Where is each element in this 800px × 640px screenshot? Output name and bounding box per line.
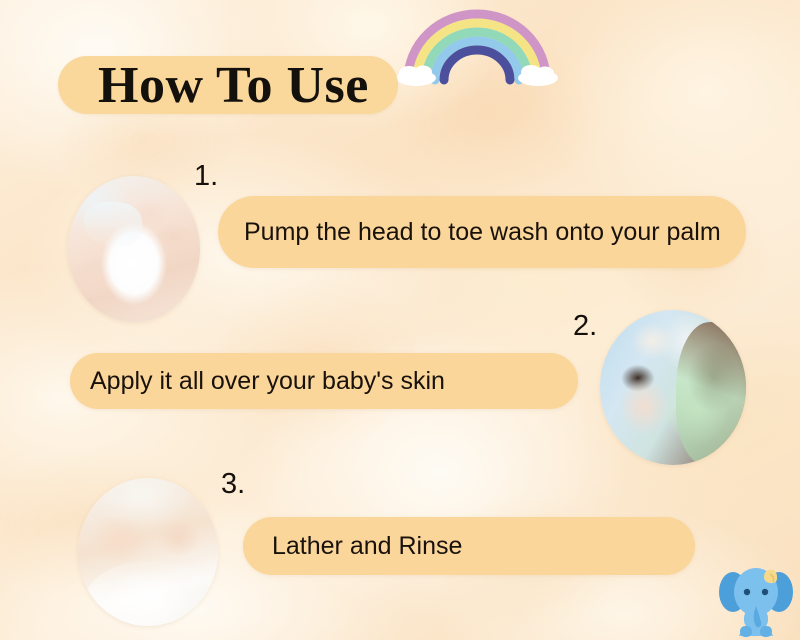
page-title: How To Use xyxy=(98,52,458,120)
step-3-number: 3. xyxy=(221,468,245,501)
step-3-photo xyxy=(78,478,218,626)
step-1-photo xyxy=(68,176,200,322)
step-3-text: Lather and Rinse xyxy=(272,517,692,575)
step-1-number: 1. xyxy=(194,160,218,193)
elephant-icon xyxy=(718,556,794,638)
step-2-photo xyxy=(600,310,746,465)
step-2-number: 2. xyxy=(573,310,597,343)
how-to-use-poster: How To Use 1. Pump the head to toe wash … xyxy=(0,0,800,640)
step-1-text: Pump the head to toe wash onto your palm xyxy=(244,196,734,268)
step-2-text: Apply it all over your baby's skin xyxy=(90,353,570,409)
